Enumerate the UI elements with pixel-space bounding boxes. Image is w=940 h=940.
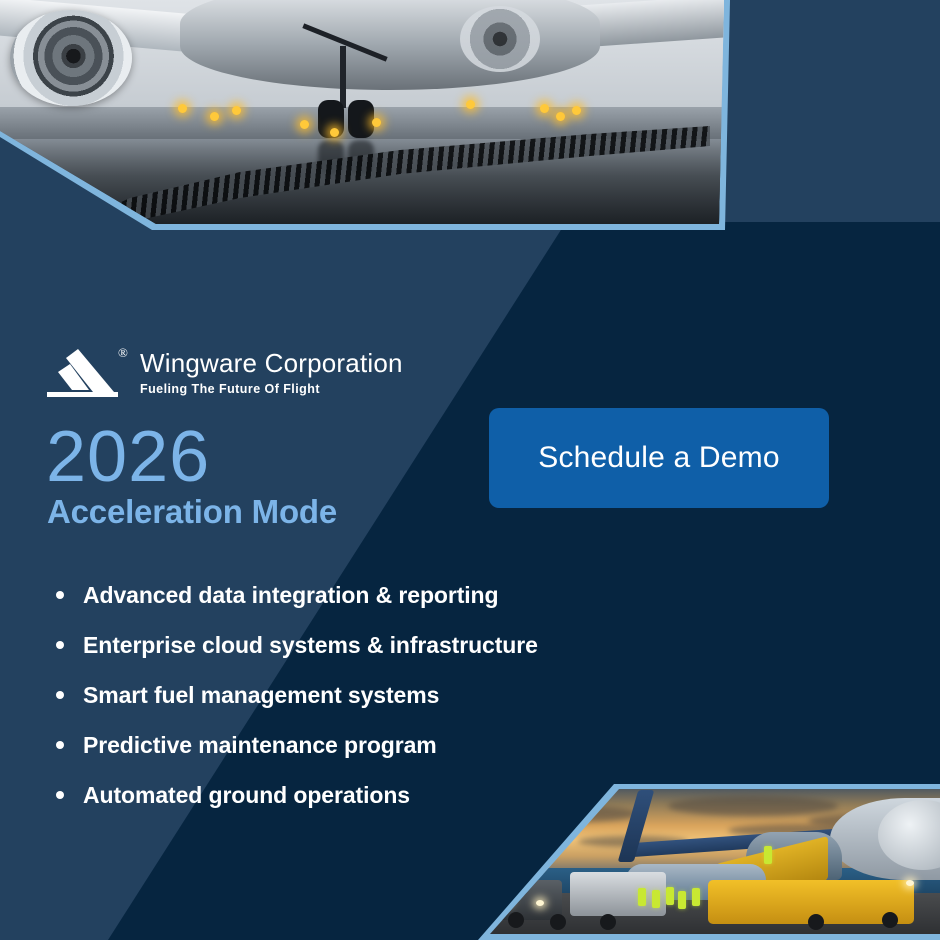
delta-wing-logo-icon: ® bbox=[44, 348, 126, 398]
brand-tagline: Fueling The Future Of Flight bbox=[140, 382, 403, 396]
bullet-icon bbox=[56, 591, 64, 599]
headline-year: 2026 bbox=[46, 424, 210, 492]
brand-name: Wingware Corporation bbox=[140, 350, 403, 377]
top-hero-image bbox=[0, 0, 730, 232]
airliner-on-wet-runway-photo bbox=[0, 0, 730, 232]
list-item: Enterprise cloud systems & infrastructur… bbox=[56, 620, 538, 670]
top-hero-image-frame bbox=[0, 0, 730, 232]
bullet-icon bbox=[56, 691, 64, 699]
list-item-label: Automated ground operations bbox=[83, 782, 410, 809]
list-item: Smart fuel management systems bbox=[56, 670, 538, 720]
list-item: Advanced data integration & reporting bbox=[56, 570, 538, 620]
list-item-label: Advanced data integration & reporting bbox=[83, 582, 498, 609]
list-item-label: Enterprise cloud systems & infrastructur… bbox=[83, 632, 538, 659]
bullet-icon bbox=[56, 641, 64, 649]
headline-subhead: Acceleration Mode bbox=[47, 495, 337, 530]
list-item: Automated ground operations bbox=[56, 770, 538, 820]
registered-trademark-icon: ® bbox=[118, 346, 128, 359]
bullet-icon bbox=[56, 791, 64, 799]
feature-list: Advanced data integration & reporting En… bbox=[56, 570, 538, 820]
brand-lockup: ® Wingware Corporation Fueling The Futur… bbox=[44, 348, 403, 398]
list-item-label: Smart fuel management systems bbox=[83, 682, 439, 709]
list-item-label: Predictive maintenance program bbox=[83, 732, 437, 759]
list-item: Predictive maintenance program bbox=[56, 720, 538, 770]
schedule-a-demo-button[interactable]: Schedule a Demo bbox=[489, 408, 829, 508]
promo-poster: ® Wingware Corporation Fueling The Futur… bbox=[0, 0, 940, 940]
bullet-icon bbox=[56, 741, 64, 749]
